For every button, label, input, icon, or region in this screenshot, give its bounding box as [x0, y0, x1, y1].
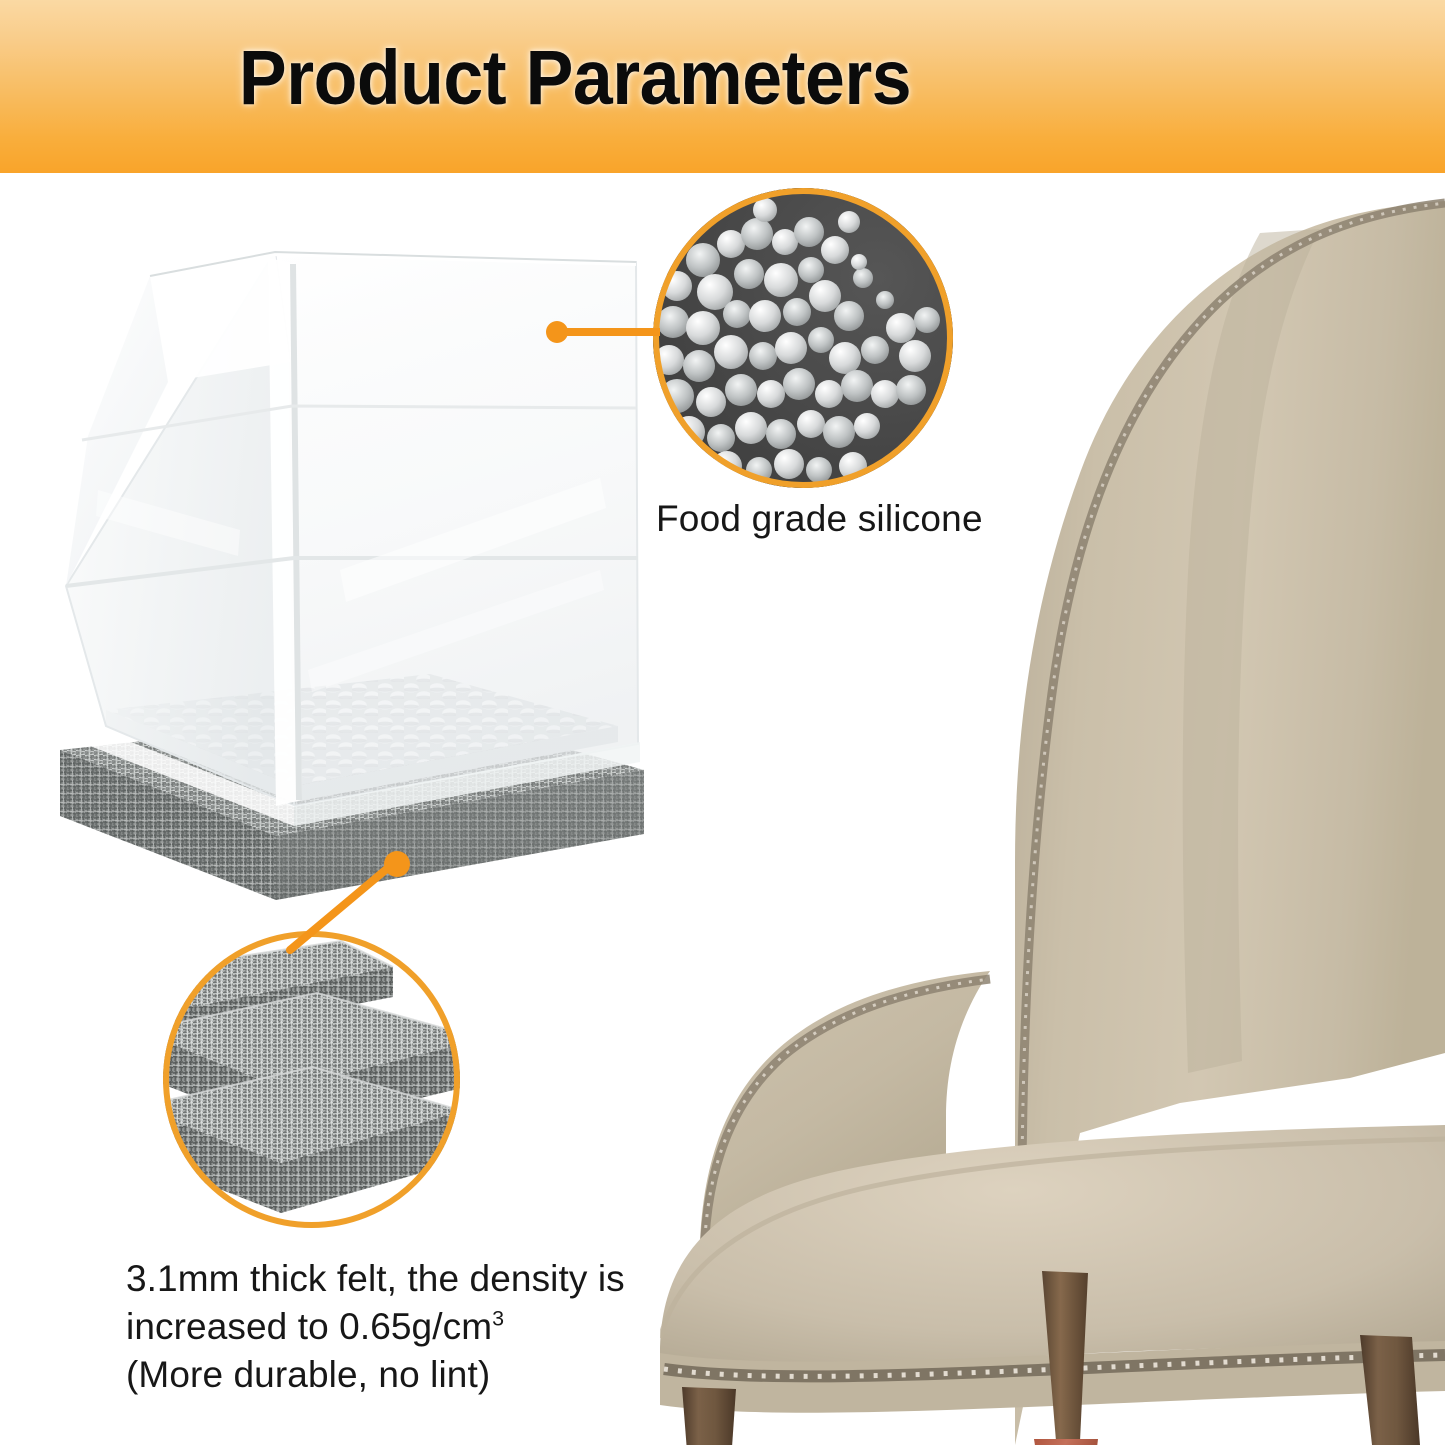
chair-leg-right: [1360, 1335, 1420, 1445]
felt-caption-line-2: increased to 0.65g/cm3: [126, 1303, 686, 1351]
felt-caption-line-2-text: increased to 0.65g/cm: [126, 1306, 492, 1347]
felt-caption-line-1: 3.1mm thick felt, the density is: [126, 1255, 686, 1303]
page-title: Product Parameters: [40, 40, 1110, 117]
felt-caption-line-3: (More durable, no lint): [126, 1351, 686, 1399]
header-banner: Product Parameters: [0, 0, 1445, 173]
leader-line-felt: [290, 862, 395, 950]
felt-caption: 3.1mm thick felt, the density is increas…: [126, 1255, 686, 1399]
chair-cap-cutaway: [40, 240, 680, 900]
chair-leg-front-left: [682, 1387, 736, 1445]
leader-dot-felt: [384, 851, 410, 877]
silicone-callout-circle: [653, 188, 953, 488]
leader-dot-silicone: [546, 321, 568, 343]
product-parameters-infographic: Product Parameters: [0, 0, 1445, 1445]
product-illustration: [40, 240, 680, 900]
leader-line-silicone: [560, 328, 660, 336]
silicone-label: Food grade silicone: [656, 498, 983, 540]
felt-caption-superscript: 3: [492, 1307, 504, 1331]
leg-cap-back-middle: [1034, 1439, 1098, 1445]
felt-slabs-image: [163, 931, 460, 1228]
silicone-beads-image: [653, 188, 953, 488]
felt-callout-circle: [163, 931, 460, 1228]
